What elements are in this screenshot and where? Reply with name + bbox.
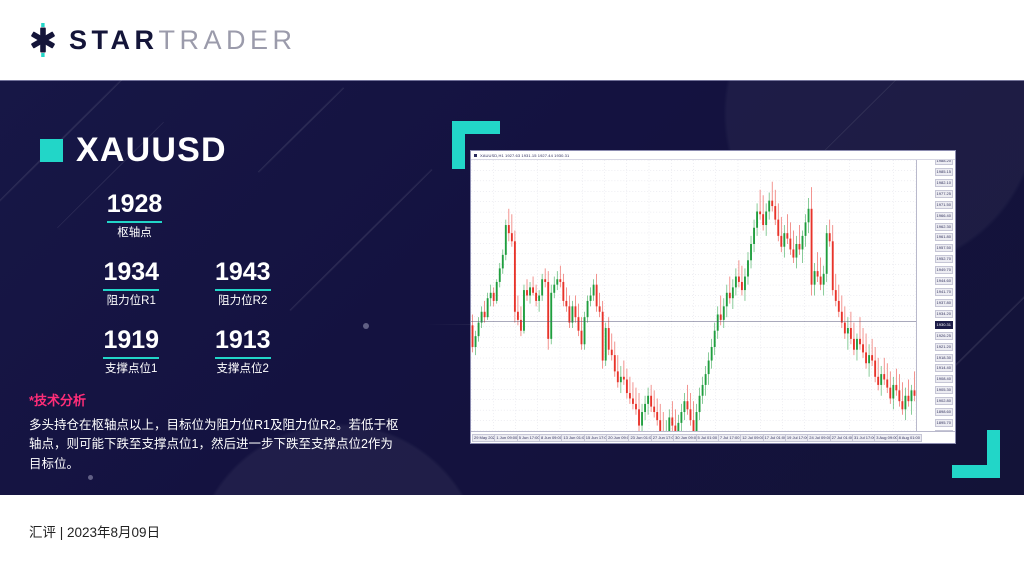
level-s1: 1919 支撑点位1 [84,326,179,377]
decor-dot [88,475,93,480]
time-tick: 5 Jul 01:00 [696,434,720,442]
price-tick: 1930.31 [935,321,953,329]
level-s2-label: 支撑点位2 [196,363,291,377]
brand-name-bold: STAR [69,25,159,55]
levels-row-support: 1919 支撑点位1 1913 支撑点位2 [40,326,290,394]
brand-name-light: TRADER [159,25,297,55]
price-chart[interactable]: XAUUSD,H1 1927.63 1931.15 1927.44 1930.3… [470,150,956,444]
price-tick: 1937.80 [935,299,953,307]
page-title: XAUUSD [76,133,227,167]
decor-bracket-bottom-right [952,430,1000,478]
levels-row-pivot: 1928 枢轴点 [84,190,290,258]
level-r1-value: 1934 [103,258,159,291]
time-tick: 8 Jun 09:00 [539,434,564,442]
analysis-body: 多头持仓在枢轴点以上，目标位为阻力位R1及阻力位R2。若低于枢轴点，则可能下跌至… [29,416,399,474]
price-tick: 1914.40 [935,364,953,372]
chart-price-axis: 1988.201985.151982.101977.251971.501966.… [916,160,955,431]
level-pivot: 1928 枢轴点 [84,190,185,241]
level-pivot-label: 枢轴点 [84,227,185,241]
instrument-title: XAUUSD [40,133,227,167]
price-tick: 1966.40 [935,212,953,220]
price-tick: 1926.25 [935,332,953,340]
level-s1-value: 1919 [103,326,159,359]
price-tick: 1898.60 [935,408,953,416]
asterisk-logo-icon [26,23,60,57]
price-tick: 1985.15 [935,168,953,176]
chart-symbol-icon [474,154,477,157]
time-tick: 5 Jun 17:00 [517,434,542,442]
level-r2: 1943 阻力位R2 [196,258,291,309]
level-pivot-value: 1928 [107,190,163,223]
price-tick: 1905.30 [935,386,953,394]
price-tick: 1962.30 [935,223,953,231]
price-tick: 1971.50 [935,201,953,209]
price-tick: 1977.25 [935,190,953,198]
price-tick: 1949.70 [935,266,953,274]
chart-time-axis: 29 May 20231 Jun 09:005 Jun 17:008 Jun 0… [471,431,955,443]
price-tick: 1988.20 [935,160,953,165]
chart-title: XAUUSD,H1 1927.63 1931.15 1927.44 1930.3… [480,153,569,158]
level-r2-label: 阻力位R2 [196,295,291,309]
brand-logo: STARTRADER [26,23,297,57]
price-tick: 1918.30 [935,354,953,362]
footer-text: 汇评 | 2023年8月09日 [29,521,160,541]
decor-streak [821,80,899,154]
chart-title-bar: XAUUSD,H1 1927.63 1931.15 1927.44 1930.3… [471,151,955,160]
price-tick: 1982.10 [935,179,953,187]
page-header: STARTRADER [0,0,1024,80]
price-tick: 1952.70 [935,255,953,263]
level-s1-label: 支撑点位1 [84,363,179,377]
panel-top-rule [0,80,1024,81]
pivot-levels: 1928 枢轴点 1934 阻力位R1 1943 阻力位R2 1919 支撑点位… [40,190,290,393]
decor-streak [290,169,433,312]
time-tick: 1 Jun 09:00 [494,434,519,442]
price-tick: 1941.70 [935,288,953,296]
level-r2-value: 1943 [215,258,271,291]
level-s2-value: 1913 [215,326,271,359]
level-r1: 1934 阻力位R1 [84,258,179,309]
time-tick: 7 Jul 17:00 [718,434,742,442]
price-tick: 1961.80 [935,233,953,241]
time-tick: 8 Aug 01:00 [897,434,922,442]
decor-streak [258,87,344,173]
price-tick: 1934.20 [935,310,953,318]
level-s2: 1913 支撑点位2 [196,326,291,377]
price-tick: 1902.80 [935,397,953,405]
page-footer: 汇评 | 2023年8月09日 [0,495,1024,576]
decor-dot [363,323,369,329]
level-r1-label: 阻力位R1 [84,295,179,309]
price-tick: 1944.60 [935,277,953,285]
technical-analysis: *技术分析 多头持仓在枢轴点以上，目标位为阻力位R1及阻力位R2。若低于枢轴点，… [29,390,399,474]
levels-row-resistance: 1934 阻力位R1 1943 阻力位R2 [40,258,290,326]
price-tick: 1921.20 [935,343,953,351]
chart-plot-area [471,160,916,431]
title-square-icon [40,139,63,162]
price-tick: 1957.50 [935,244,953,252]
price-tick: 1895.70 [935,419,953,427]
brand-name: STARTRADER [69,27,297,54]
analysis-heading: *技术分析 [29,390,399,409]
price-tick: 1908.40 [935,375,953,383]
